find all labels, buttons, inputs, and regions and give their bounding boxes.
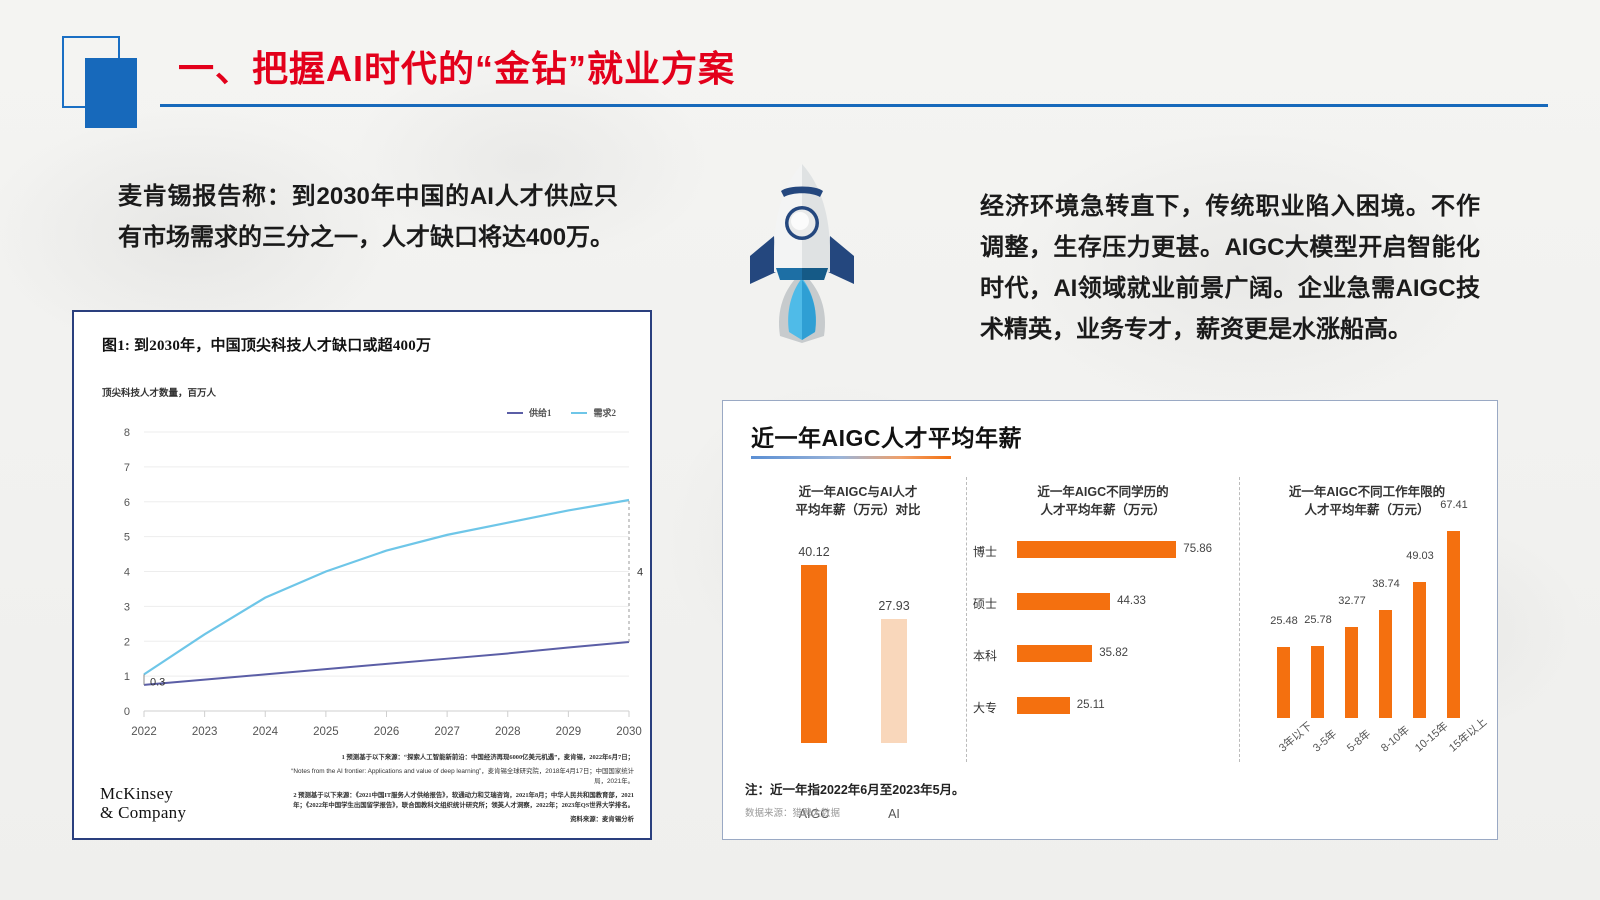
panel3-bars: 25.483年以下25.783-5年32.775-8年38.748-10年49.… bbox=[1259, 503, 1483, 718]
ybar-3 bbox=[1379, 610, 1392, 718]
ybar-value-3: 38.74 bbox=[1364, 578, 1408, 590]
ybar-value-1: 25.78 bbox=[1296, 614, 1340, 626]
hbar-value-2: 35.82 bbox=[1099, 647, 1128, 659]
svg-text:2025: 2025 bbox=[313, 726, 339, 738]
mckinsey-logo: McKinsey & Company bbox=[100, 784, 186, 822]
panel2-bars: 博士75.86硕士44.33本科35.82大专25.11 bbox=[973, 541, 1233, 756]
svg-text:2023: 2023 bbox=[192, 726, 218, 738]
panel-divider-1 bbox=[966, 477, 967, 762]
svg-text:3: 3 bbox=[124, 601, 130, 613]
svg-text:2022: 2022 bbox=[131, 726, 157, 738]
panel-by-experience: 近一年AIGC不同工作年限的 人才平均年薪（万元） 25.483年以下25.78… bbox=[1251, 483, 1483, 783]
aigc-note: 注：近一年指2022年6月至2023年5月。 bbox=[745, 779, 965, 798]
hbar-value-0: 75.86 bbox=[1183, 543, 1212, 555]
svg-text:5: 5 bbox=[124, 532, 130, 544]
svg-text:2028: 2028 bbox=[495, 726, 521, 738]
header-divider bbox=[160, 104, 1548, 107]
panel2-title-line1: 近一年AIGC不同学历的 bbox=[973, 483, 1233, 501]
svg-text:2030: 2030 bbox=[616, 726, 642, 738]
ybar-1 bbox=[1311, 646, 1324, 718]
bar-ai bbox=[881, 619, 907, 743]
mckinsey-footnotes: 1 预测基于以下来源：“探索人工智能新前沿：中国经济再现6000亿美元机遇”，麦… bbox=[289, 753, 634, 829]
ybar-2 bbox=[1345, 627, 1358, 718]
svg-text:2029: 2029 bbox=[556, 726, 582, 738]
ybar-value-5: 67.41 bbox=[1432, 499, 1476, 511]
hbar-2 bbox=[1017, 645, 1092, 662]
svg-text:4.1: 4.1 bbox=[637, 567, 644, 579]
aigc-data-source: 数据来源：猎聘大数据 bbox=[745, 805, 840, 819]
svg-text:2027: 2027 bbox=[434, 726, 460, 738]
bar-value-ai: 27.93 bbox=[867, 599, 921, 613]
chart-y-tick-labels: 012345678 bbox=[124, 427, 130, 718]
svg-text:8: 8 bbox=[124, 427, 130, 439]
panel-aigc-vs-ai: 近一年AIGC与AI人才 平均年薪（万元）对比 40.12AIGC27.93AI bbox=[753, 483, 963, 773]
ybar-label-3: 8-10年 bbox=[1377, 722, 1413, 755]
svg-text:7: 7 bbox=[124, 462, 130, 474]
ybar-label-4: 10-15年 bbox=[1411, 718, 1451, 755]
header-square-solid bbox=[85, 58, 137, 128]
hbar-value-1: 44.33 bbox=[1117, 595, 1146, 607]
ybar-4 bbox=[1413, 582, 1426, 718]
chart-gridlines bbox=[144, 432, 629, 676]
ybar-0 bbox=[1277, 647, 1290, 718]
mckinsey-line-chart: 012345678 202220232024202520262027202820… bbox=[84, 412, 644, 752]
chart-gap-annotations: 0.34.1 bbox=[144, 500, 644, 688]
svg-text:2024: 2024 bbox=[252, 726, 278, 738]
hbar-0 bbox=[1017, 541, 1176, 558]
mckinsey-chart-card: 图1: 到2030年，中国顶尖科技人才缺口或超400万 顶尖科技人才数量，百万人… bbox=[72, 310, 652, 840]
hbar-label-3: 大专 bbox=[973, 699, 1009, 716]
hbar-1 bbox=[1017, 593, 1110, 610]
svg-text:2026: 2026 bbox=[374, 726, 400, 738]
bar-label-ai: AI bbox=[867, 807, 921, 821]
hbar-label-1: 硕士 bbox=[973, 595, 1009, 612]
panel1-title-line1: 近一年AIGC与AI人才 bbox=[753, 483, 963, 501]
footnote-1b: “Notes from the AI frontier: Application… bbox=[289, 767, 634, 787]
footnote-2: 2 预测基于以下来源：《2021中国IT服务人才供给报告》，软通动力和艾瑞咨询，… bbox=[289, 791, 634, 811]
mckinsey-logo-line2: & Company bbox=[100, 803, 186, 822]
svg-text:6: 6 bbox=[124, 497, 130, 509]
panel1-bars: 40.12AIGC27.93AI bbox=[753, 543, 963, 743]
hbar-label-2: 本科 bbox=[973, 647, 1009, 664]
chart-x-tick-labels: 202220232024202520262027202820292030 bbox=[131, 726, 642, 738]
chart-x-tick-marks bbox=[144, 711, 629, 717]
mckinsey-axis-unit-label: 顶尖科技人才数量，百万人 bbox=[102, 385, 216, 399]
slide-header: 一、把握AI时代的“金钻”就业方案 bbox=[0, 0, 1600, 130]
ybar-label-2: 5-8年 bbox=[1343, 726, 1374, 756]
panel1-title: 近一年AIGC与AI人才 平均年薪（万元）对比 bbox=[753, 483, 963, 519]
aigc-card-title: 近一年AIGC人才平均年薪 bbox=[751, 419, 1022, 453]
svg-text:2: 2 bbox=[124, 636, 130, 648]
rocket-icon bbox=[732, 160, 872, 345]
ybar-label-0: 3年以下 bbox=[1275, 718, 1315, 755]
ybar-value-4: 49.03 bbox=[1398, 550, 1442, 562]
ybar-label-5: 15年以上 bbox=[1445, 714, 1490, 755]
svg-text:4: 4 bbox=[124, 567, 130, 579]
intro-paragraph-left: 麦肯锡报告称：到2030年中国的AI人才供应只有市场需求的三分之一，人才缺口将达… bbox=[118, 176, 618, 258]
mckinsey-logo-line1: McKinsey bbox=[100, 784, 186, 803]
svg-text:0: 0 bbox=[124, 706, 130, 718]
aigc-title-underline bbox=[751, 456, 951, 459]
ybar-5 bbox=[1447, 531, 1460, 718]
mckinsey-chart-title: 图1: 到2030年，中国顶尖科技人才缺口或超400万 bbox=[102, 334, 431, 355]
hbar-label-0: 博士 bbox=[973, 543, 1009, 560]
panel-by-education: 近一年AIGC不同学历的 人才平均年薪（万元） 博士75.86硕士44.33本科… bbox=[973, 483, 1233, 773]
bar-aigc bbox=[801, 565, 827, 743]
panel-divider-2 bbox=[1239, 477, 1240, 762]
svg-text:0.3: 0.3 bbox=[150, 676, 165, 688]
panel1-title-line2: 平均年薪（万元）对比 bbox=[753, 501, 963, 519]
ybar-value-2: 32.77 bbox=[1330, 595, 1374, 607]
footnote-source: 资料来源：麦肯锡分析 bbox=[289, 815, 634, 825]
series-line-supply bbox=[144, 642, 629, 685]
page-title: 一、把握AI时代的“金钻”就业方案 bbox=[178, 40, 735, 92]
aigc-salary-card: 近一年AIGC人才平均年薪 近一年AIGC与AI人才 平均年薪（万元）对比 40… bbox=[722, 400, 1498, 840]
svg-text:1: 1 bbox=[124, 671, 130, 683]
intro-paragraph-right: 经济环境急转直下，传统职业陷入困境。不作调整，生存压力更甚。AIGC大模型开启智… bbox=[980, 186, 1480, 350]
footnote-1: 1 预测基于以下来源：“探索人工智能新前沿：中国经济再现6000亿美元机遇”，麦… bbox=[289, 753, 634, 763]
panel2-title-line2: 人才平均年薪（万元） bbox=[973, 501, 1233, 519]
hbar-value-3: 25.11 bbox=[1077, 699, 1105, 711]
hbar-3 bbox=[1017, 697, 1070, 714]
panel2-title: 近一年AIGC不同学历的 人才平均年薪（万元） bbox=[973, 483, 1233, 519]
bar-value-aigc: 40.12 bbox=[787, 545, 841, 559]
